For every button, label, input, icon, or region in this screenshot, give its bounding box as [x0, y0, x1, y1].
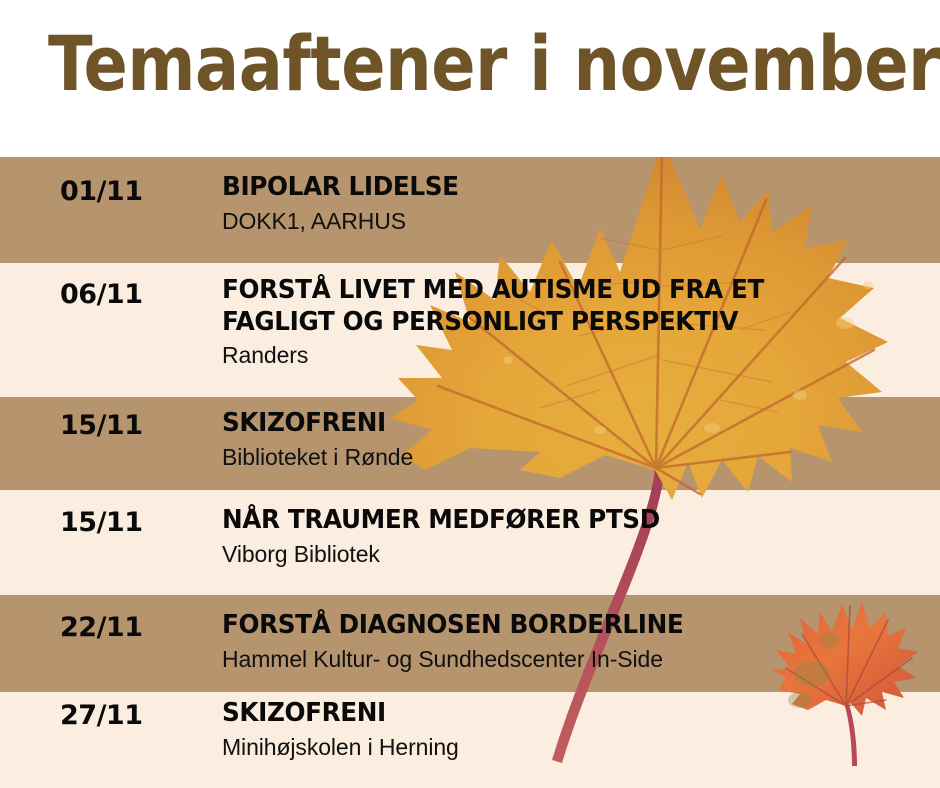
event-date: 15/11 — [60, 507, 210, 538]
event-title: SKIZOFRENI — [222, 408, 887, 440]
event-body: SKIZOFRENI Biblioteket i Rønde — [222, 408, 922, 471]
event-body: FORSTÅ LIVET MED AUTISME UD FRA ET FAGLI… — [222, 275, 922, 370]
title-banner: Temaaftener i november — [0, 0, 940, 157]
event-venue: Viborg Bibliotek — [222, 540, 922, 569]
event-date: 27/11 — [60, 700, 210, 731]
page-title: Temaaftener i november — [48, 26, 940, 102]
event-date: 15/11 — [60, 410, 210, 441]
event-body: NÅR TRAUMER MEDFØRER PTSD Viborg Bibliot… — [222, 505, 922, 568]
event-body: SKIZOFRENI Minihøjskolen i Herning — [222, 698, 922, 761]
event-body: FORSTÅ DIAGNOSEN BORDERLINE Hammel Kultu… — [222, 610, 922, 673]
event-body: BIPOLAR LIDELSE DOKK1, AARHUS — [222, 172, 922, 235]
event-title: NÅR TRAUMER MEDFØRER PTSD — [222, 505, 887, 537]
poster-canvas: Temaaftener i november 01/11 BIPOLAR LID… — [0, 0, 940, 788]
event-date: 22/11 — [60, 612, 210, 643]
event-title: FORSTÅ LIVET MED AUTISME UD FRA ET FAGLI… — [222, 275, 887, 338]
event-date: 06/11 — [60, 279, 210, 310]
event-title: FORSTÅ DIAGNOSEN BORDERLINE — [222, 610, 887, 642]
event-title: SKIZOFRENI — [222, 698, 887, 730]
event-venue: Hammel Kultur- og Sundhedscenter In-Side — [222, 645, 922, 674]
event-venue: Randers — [222, 341, 922, 370]
event-venue: Minihøjskolen i Herning — [222, 733, 922, 762]
event-venue: DOKK1, AARHUS — [222, 207, 922, 236]
event-date: 01/11 — [60, 176, 210, 207]
event-title: BIPOLAR LIDELSE — [222, 172, 887, 204]
event-venue: Biblioteket i Rønde — [222, 443, 922, 472]
